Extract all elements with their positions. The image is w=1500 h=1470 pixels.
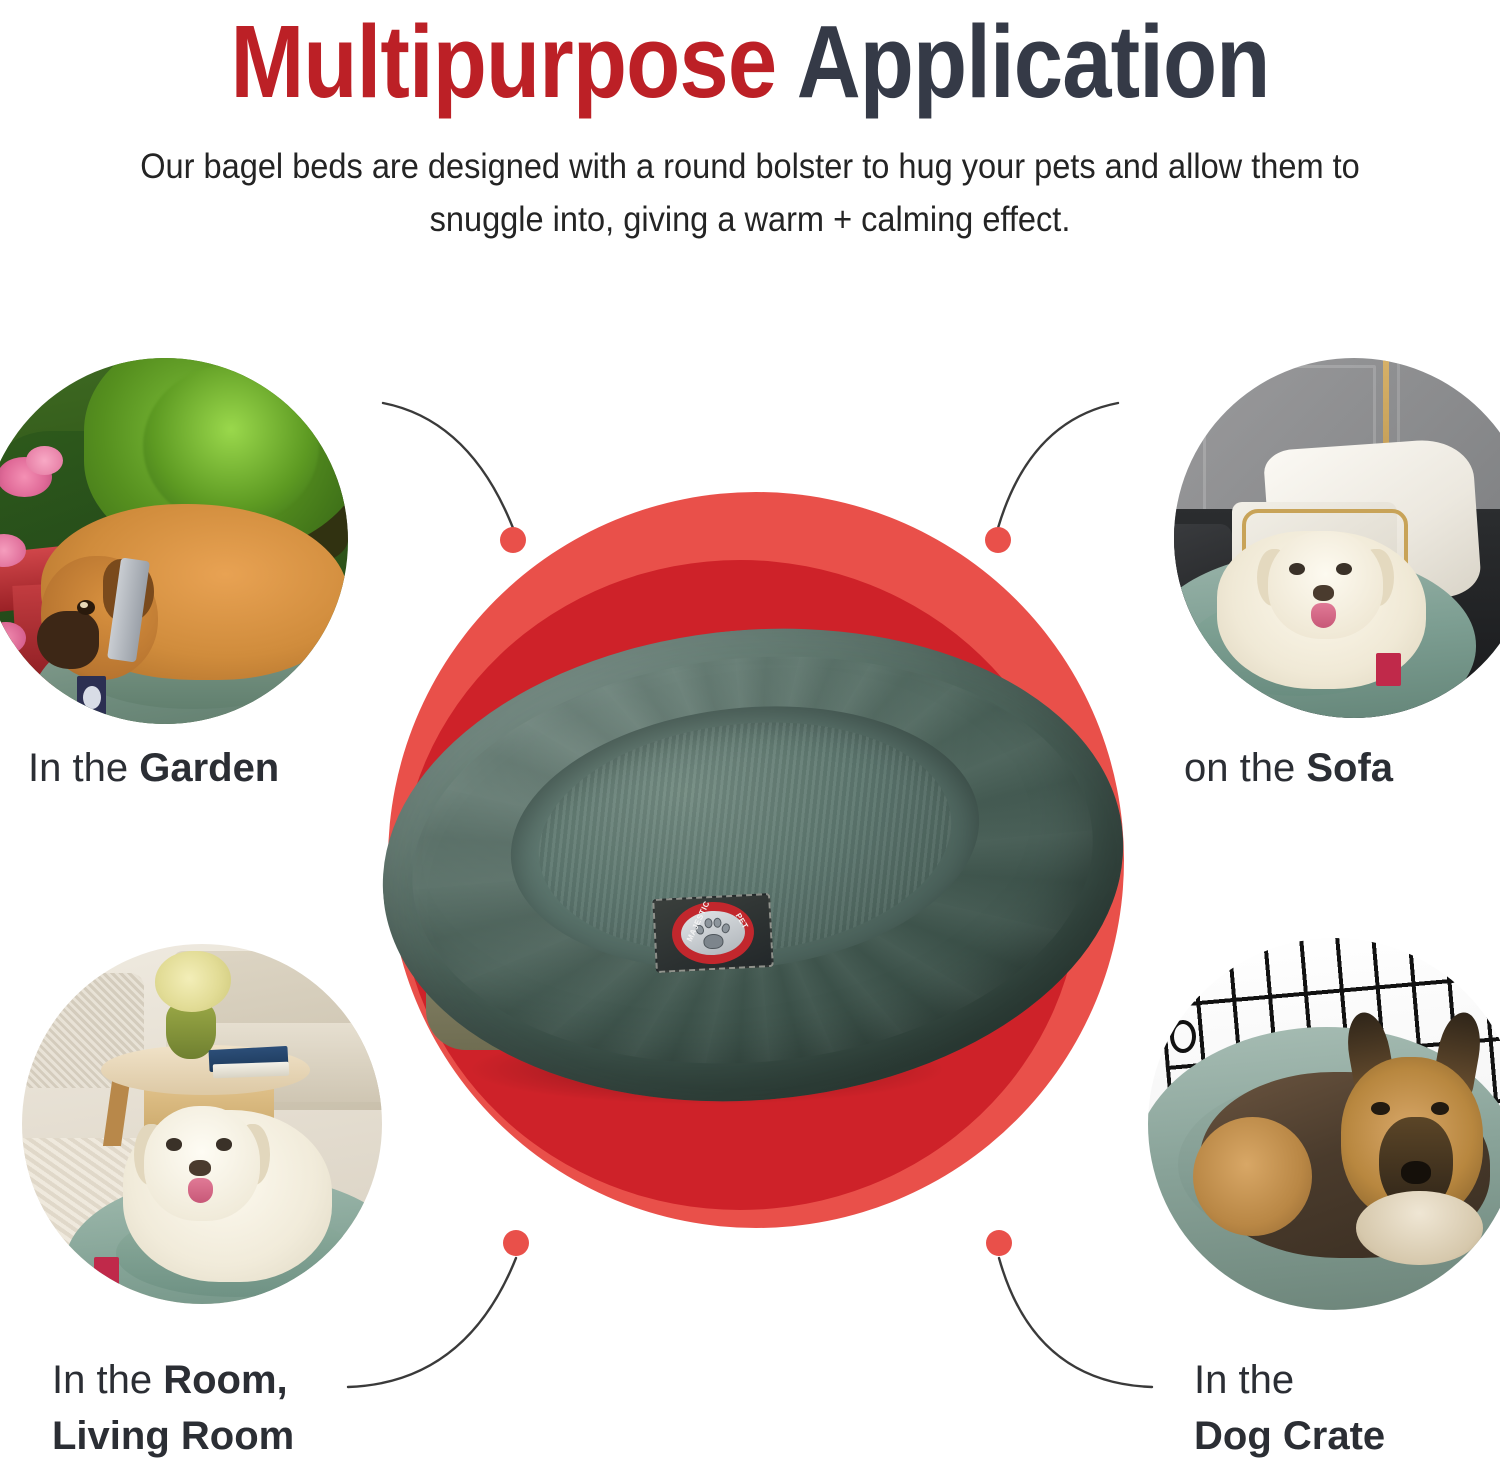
- garden-pink-flower: [26, 446, 63, 475]
- brand-tag-oval: MAJESTIC PET: [670, 900, 755, 966]
- page-subtitle: Our bagel beds are designed with a round…: [90, 140, 1411, 246]
- product-dog-bed: MAJESTIC PET: [382, 630, 1124, 1130]
- livingroom-book: [213, 1061, 289, 1078]
- callout-label-sofa: on the Sofa: [1184, 740, 1393, 796]
- livingroom-dog-eye: [216, 1138, 232, 1150]
- callout-label-sofa-prefix: on the: [1184, 746, 1306, 790]
- connector-dot-livingroom: [503, 1230, 529, 1256]
- livingroom-dog-nose: [189, 1160, 211, 1176]
- crate-dog-eye: [1371, 1102, 1390, 1115]
- callout-label-crate-line1: In the: [1194, 1358, 1294, 1402]
- callout-photo-crate: [1148, 938, 1500, 1310]
- garden-dog-muzzle: [37, 611, 99, 670]
- connector-dot-crate: [986, 1230, 1012, 1256]
- sofa-dog-nose: [1313, 585, 1335, 601]
- garden-bed-brand-tag-emblem: [83, 686, 101, 710]
- crate-dog-hindquarters: [1193, 1117, 1312, 1236]
- garden-scene: [0, 358, 348, 724]
- livingroom-scene: [22, 944, 382, 1304]
- callout-label-livingroom-prefix: In the: [52, 1358, 163, 1402]
- page-title: Multipurpose Application: [105, 0, 1395, 118]
- sofa-dog-tongue: [1311, 603, 1336, 628]
- callout-label-livingroom-line1: In the Room,: [52, 1358, 288, 1402]
- paw-toe: [713, 918, 722, 928]
- callout-label-livingroom-bold: Room,: [163, 1358, 287, 1402]
- livingroom-dog-tongue: [188, 1178, 213, 1203]
- garden-bush-highlight: [143, 365, 319, 526]
- callout-label-crate: In the Dog Crate: [1194, 1352, 1385, 1464]
- paw-toe: [720, 922, 731, 934]
- callout-label-garden-prefix: In the: [28, 746, 139, 790]
- livingroom-bed-brand-tag: [94, 1257, 119, 1289]
- livingroom-dog-eye: [166, 1138, 182, 1150]
- header: Multipurpose Application Our bagel beds …: [0, 0, 1500, 246]
- paw-toe: [704, 918, 713, 928]
- connector-line-crate: [999, 1258, 1152, 1387]
- title-word-multipurpose: Multipurpose: [230, 4, 776, 119]
- callout-label-crate-line2: Dog Crate: [1194, 1408, 1385, 1464]
- callout-photo-sofa: [1174, 358, 1500, 718]
- paw-print-icon: [695, 916, 731, 950]
- product-brand-tag: MAJESTIC PET: [652, 893, 774, 973]
- callout-label-livingroom-line2: Living Room: [52, 1408, 294, 1464]
- center-product-stage: MAJESTIC PET: [370, 482, 1130, 1262]
- sofa-bed-brand-tag: [1376, 653, 1401, 685]
- callout-label-garden: In the Garden: [28, 740, 279, 796]
- callout-photo-livingroom: [22, 944, 382, 1304]
- callout-photo-garden: [0, 358, 348, 724]
- connector-dot-sofa: [985, 527, 1011, 553]
- callout-label-garden-bold: Garden: [139, 746, 279, 790]
- sofa-scene: [1174, 358, 1500, 718]
- crate-scene: [1148, 938, 1500, 1310]
- brand-tag-text-pet: PET: [734, 911, 750, 930]
- callout-label-sofa-bold: Sofa: [1306, 746, 1393, 790]
- crate-dog-chest-fur: [1356, 1191, 1482, 1265]
- title-word-application: Application: [797, 4, 1270, 119]
- connector-dot-garden: [500, 527, 526, 553]
- paw-pad: [703, 933, 724, 949]
- paw-toe: [694, 923, 705, 935]
- crate-dog-nose: [1401, 1161, 1431, 1183]
- callout-label-livingroom: In the Room, Living Room: [52, 1352, 294, 1464]
